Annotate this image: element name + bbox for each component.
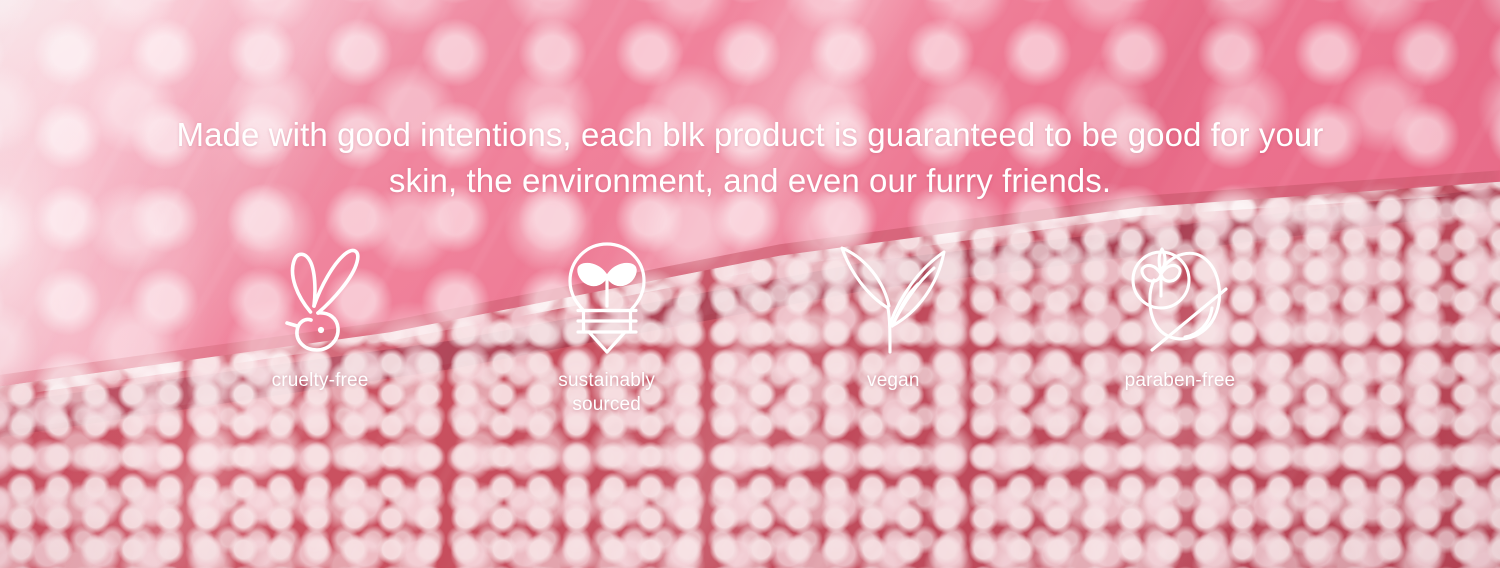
banner-headline: Made with good intentions, each blk prod… [160,112,1340,203]
badge-label-vegan: vegan [867,369,920,393]
badge-label-cruelty-free: cruelty-free [272,369,369,393]
lightbulb-sprout-icon [565,239,649,357]
banner-content: Made with good intentions, each blk prod… [0,0,1500,568]
bunny-icon [277,239,363,357]
values-banner: Made with good intentions, each blk prod… [0,0,1500,568]
badge-sustainably-sourced: sustainably sourced [507,239,707,418]
badge-label-paraben-free: paraben-free [1125,369,1236,393]
no-chemical-icon [1128,239,1232,357]
badge-list: cruelty-free [220,239,1280,418]
badge-vegan: vegan [793,239,993,393]
badge-label-sustainably-sourced: sustainably sourced [558,369,655,418]
badge-paraben-free: paraben-free [1080,239,1280,393]
leaves-icon [838,239,948,357]
badge-cruelty-free: cruelty-free [220,239,420,393]
